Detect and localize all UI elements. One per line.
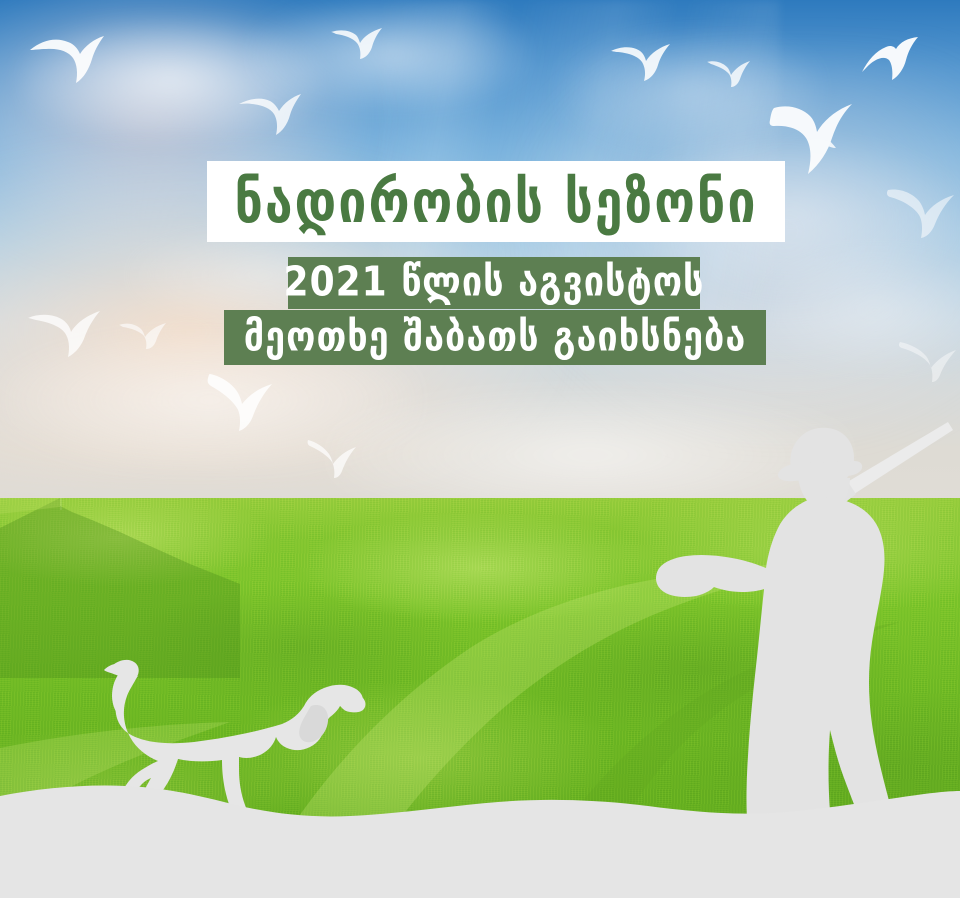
bird-icon: [206, 370, 278, 432]
title-banner: ნადირობის სეზონი: [207, 161, 785, 242]
bird-icon: [118, 320, 170, 350]
bird-icon: [886, 182, 958, 238]
subtitle-line-2: მეოთხე შაბათს გაიხსნება: [244, 317, 747, 358]
bird-icon: [330, 26, 388, 60]
bird-icon: [610, 42, 676, 82]
bird-icon: [306, 438, 362, 478]
bird-icon: [238, 90, 310, 138]
bird-icon: [706, 58, 754, 88]
foreground-ground-shape: [0, 758, 960, 898]
bird-icon: [28, 28, 120, 88]
bird-icon: [26, 308, 110, 358]
subtitle-line-1: 2021 წლის აგვისტოს: [284, 262, 705, 303]
bird-icon: [898, 338, 960, 382]
poster-title: ნადირობის სეზონი: [234, 172, 757, 231]
hunting-season-poster: ნადირობის სეზონი 2021 წლის აგვისტოს მეოთ…: [0, 0, 960, 898]
bird-icon: [860, 36, 928, 84]
subtitle-banner-line-1: 2021 წლის აგვისტოს: [288, 257, 700, 309]
subtitle-banner-line-2: მეოთხე შაბათს გაიხსნება: [224, 310, 766, 365]
